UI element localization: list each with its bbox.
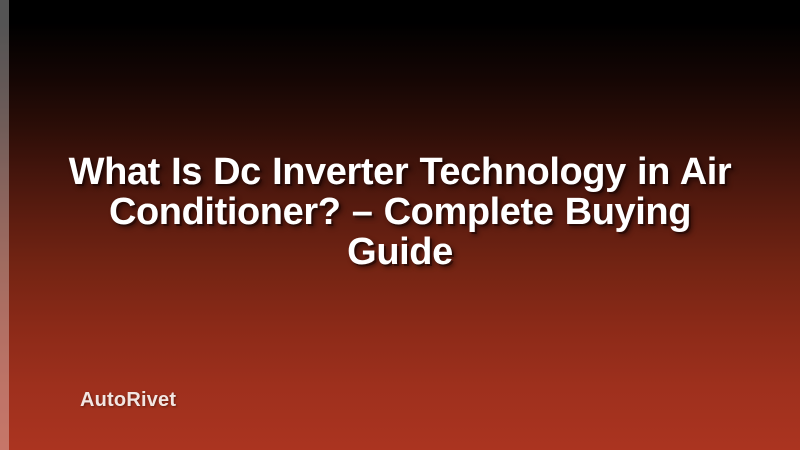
cover-content: What Is Dc Inverter Technology in Air Co… (0, 0, 800, 450)
title-block: What Is Dc Inverter Technology in Air Co… (68, 152, 732, 272)
page-title: What Is Dc Inverter Technology in Air Co… (68, 152, 732, 272)
cover-banner: What Is Dc Inverter Technology in Air Co… (0, 0, 800, 450)
brand-name: AutoRivet (80, 388, 176, 412)
brand-block: AutoRivet (80, 388, 176, 412)
